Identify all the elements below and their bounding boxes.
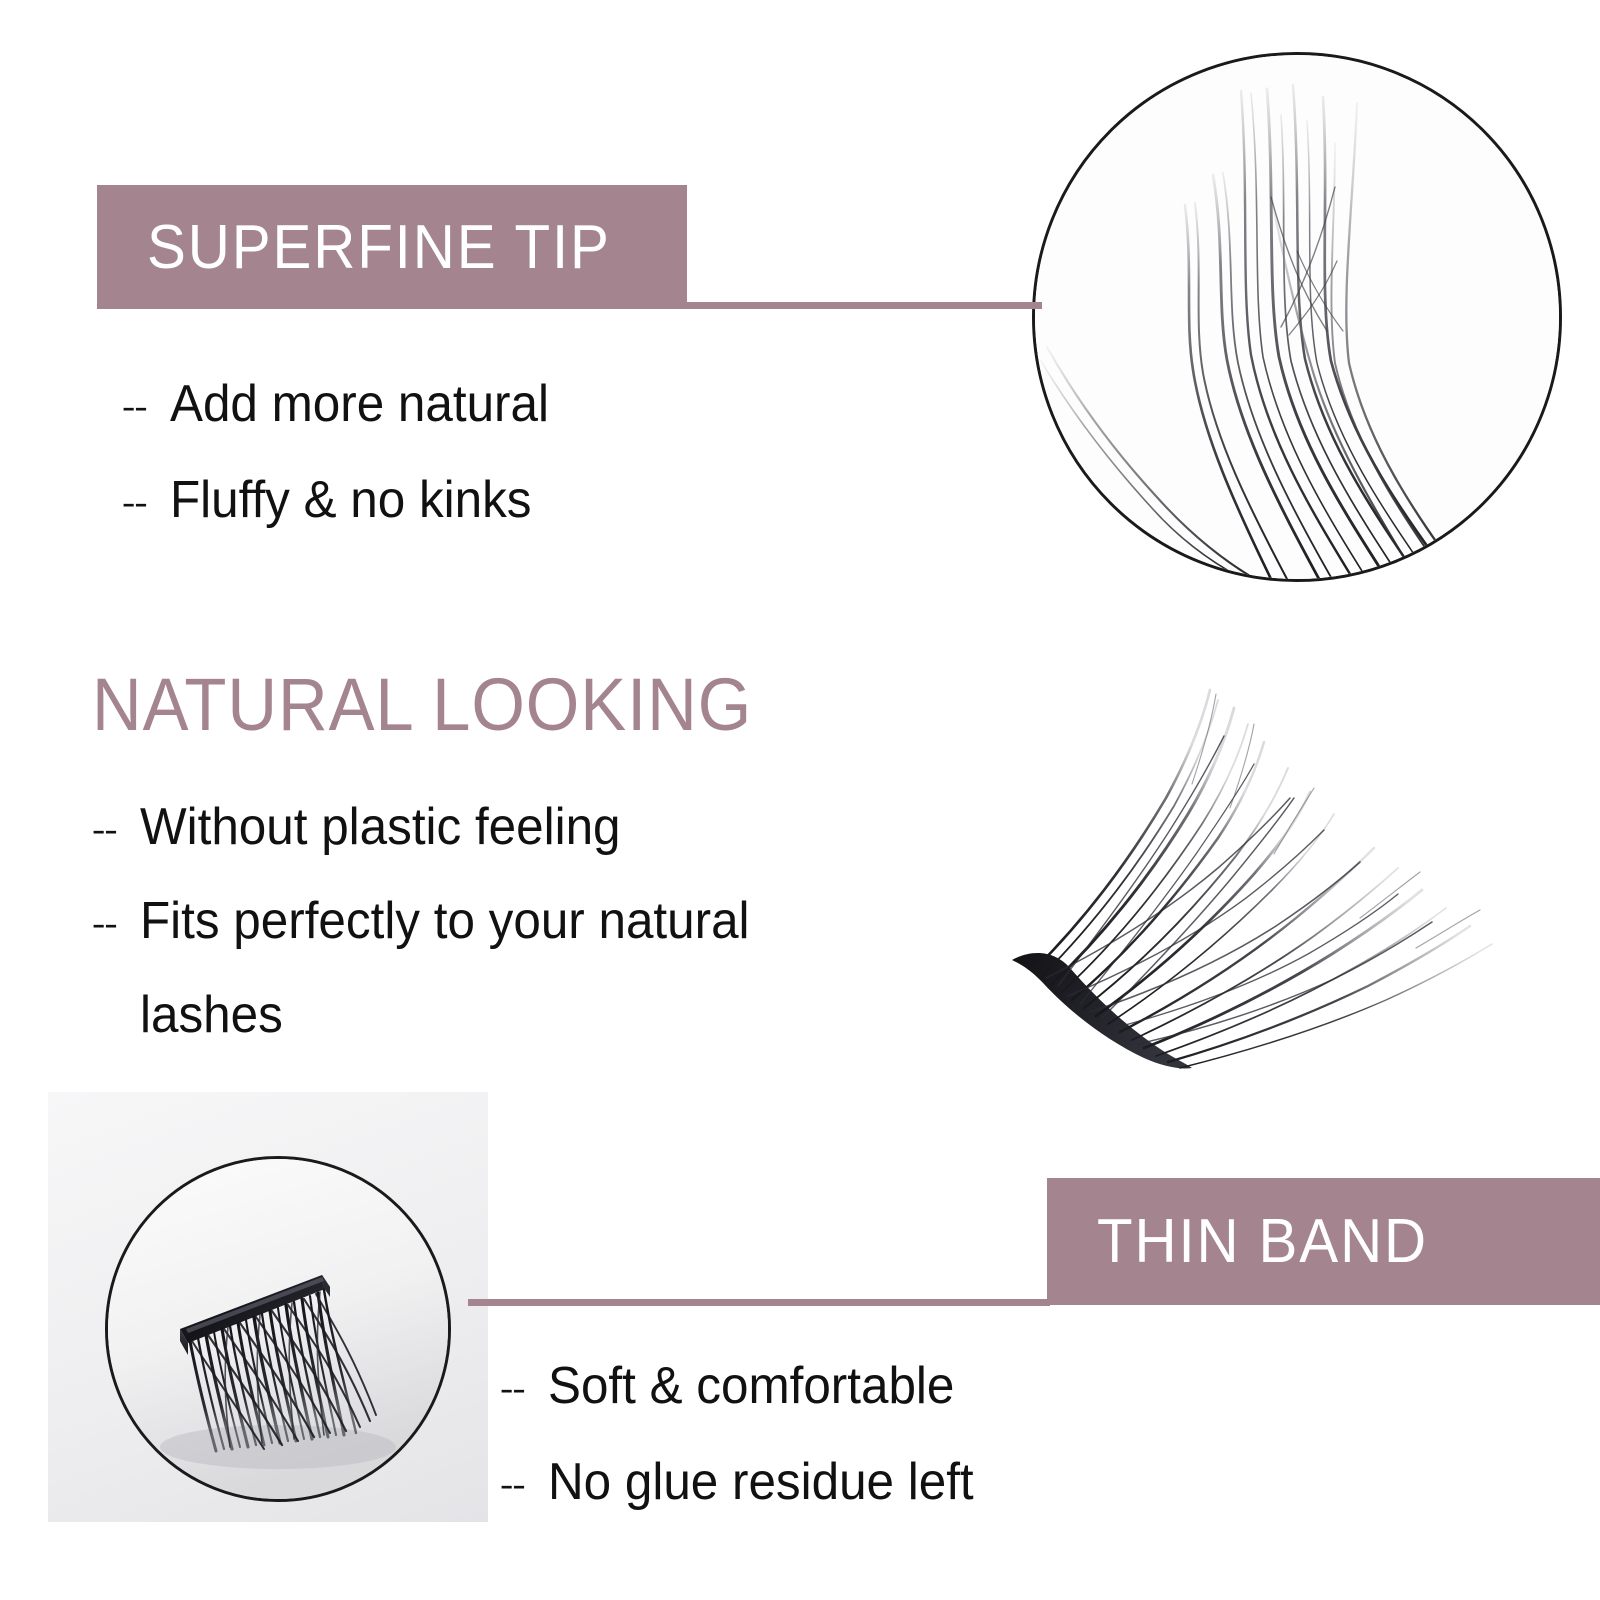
list-item: -- Fits perfectly to your natural — [92, 876, 782, 970]
product-infographic: SUPERFINE TIP -- Add more natural -- Flu… — [0, 0, 1600, 1600]
list-item-label: Fluffy & no kinks — [170, 454, 532, 546]
list-item-label: No glue residue left — [548, 1436, 974, 1528]
dash-bullet-icon: -- — [92, 806, 140, 856]
list-item: -- Without plastic feeling — [92, 782, 782, 876]
list-item: -- Add more natural — [122, 358, 569, 454]
dash-bullet-icon: -- — [122, 383, 170, 434]
list-item-label: Without plastic feeling — [140, 782, 621, 872]
thin-band-closeup-image — [105, 1156, 451, 1502]
thin-band-banner: THIN BAND — [1047, 1178, 1600, 1305]
list-item-continuation: lashes — [92, 970, 782, 1060]
superfine-tip-banner-label: SUPERFINE TIP — [147, 212, 611, 283]
thin-band-banner-label: THIN BAND — [1097, 1206, 1428, 1277]
list-item-label: Add more natural — [170, 358, 549, 450]
dash-bullet-icon: -- — [92, 900, 140, 950]
natural-looking-heading: NATURAL LOOKING — [92, 662, 752, 747]
list-item-label: Fits perfectly to your natural — [140, 876, 750, 966]
dash-bullet-icon: -- — [500, 1365, 548, 1416]
dash-bullet-icon: -- — [122, 479, 170, 530]
list-item: -- No glue residue left — [500, 1436, 996, 1532]
thin-band-bullet-list: -- Soft & comfortable -- No glue residue… — [500, 1340, 996, 1532]
superfine-tip-banner: SUPERFINE TIP — [97, 185, 687, 309]
list-item-label: Soft & comfortable — [548, 1340, 954, 1432]
lash-strip-image — [930, 618, 1570, 1088]
list-item: -- Soft & comfortable — [500, 1340, 996, 1436]
natural-looking-bullet-list: -- Without plastic feeling -- Fits perfe… — [92, 782, 782, 1060]
dash-bullet-icon: -- — [500, 1461, 548, 1512]
list-item-label: lashes — [140, 970, 283, 1060]
superfine-tip-closeup-image — [1032, 52, 1562, 582]
list-item: -- Fluffy & no kinks — [122, 454, 569, 550]
superfine-tip-bullet-list: -- Add more natural -- Fluffy & no kinks — [122, 358, 569, 550]
superfine-connector-line — [684, 302, 1042, 309]
thin-band-connector-line — [468, 1299, 1050, 1306]
